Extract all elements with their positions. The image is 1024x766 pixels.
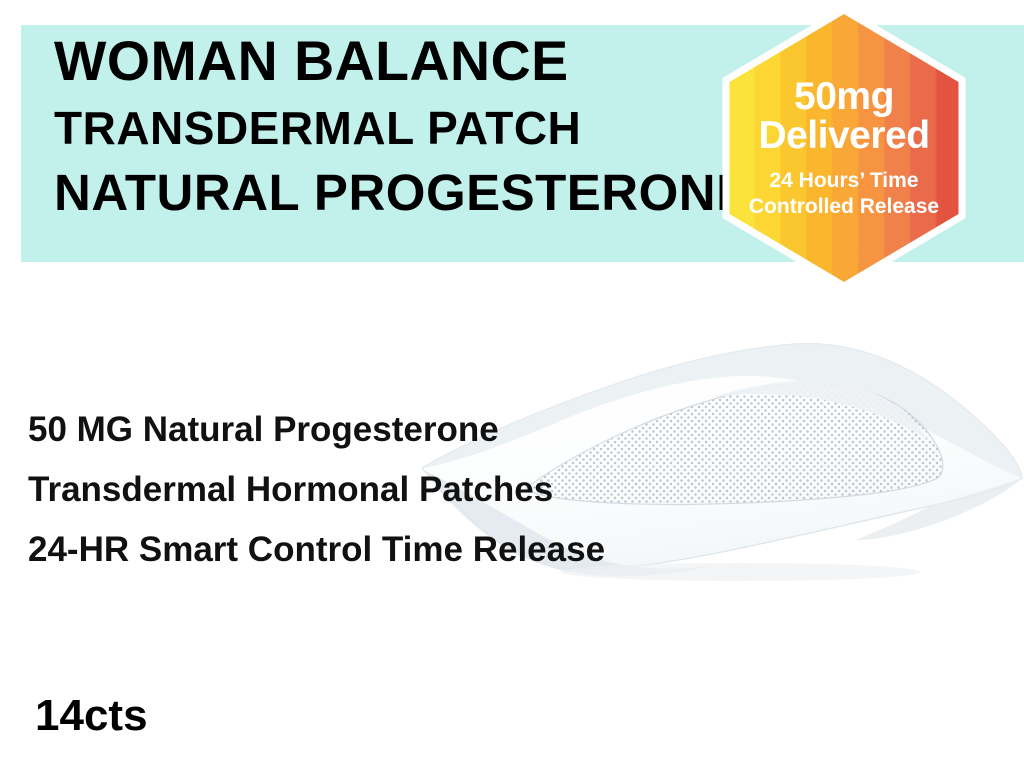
feature-line-1: 50 MG Natural Progesterone: [28, 412, 668, 447]
product-title-line-1: WOMAN BALANCE: [54, 33, 688, 89]
feature-line-3: 24-HR Smart Control Time Release: [28, 532, 668, 567]
product-title-line-2: TRANSDERMAL PATCH: [54, 105, 694, 151]
pack-count: 14cts: [35, 694, 148, 738]
feature-line-2: Transdermal Hormonal Patches: [28, 472, 668, 507]
product-title-line-3: NATURAL PROGESTERONE: [54, 167, 694, 218]
feature-list: 50 MG Natural Progesterone Transdermal H…: [28, 412, 668, 567]
hexagon-shape-icon: [722, 6, 966, 290]
dose-hex-badge: 50mg Delivered 24 Hours’ Time Controlled…: [722, 6, 966, 290]
headline-stack: WOMAN BALANCE TRANSDERMAL PATCH NATURAL …: [54, 33, 694, 218]
product-label-canvas: WOMAN BALANCE TRANSDERMAL PATCH NATURAL …: [0, 0, 1024, 766]
